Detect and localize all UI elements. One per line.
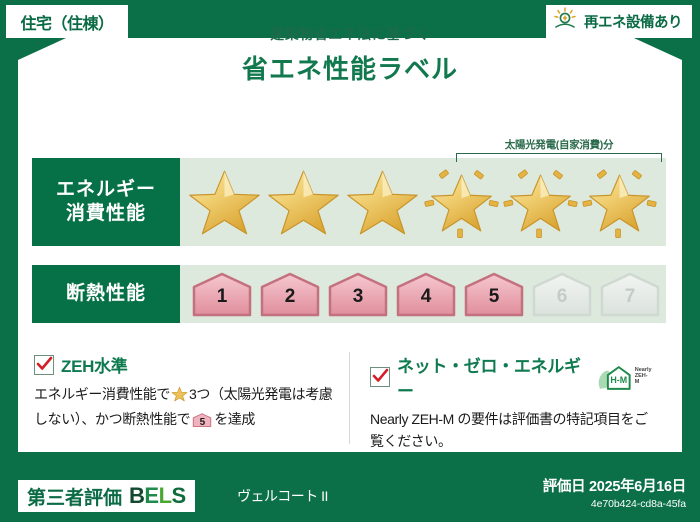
solar-annotation-bracket xyxy=(456,153,662,162)
insulation-level-value: 6 xyxy=(530,287,594,306)
star-icon xyxy=(186,165,263,239)
bels-logo: 第三者評価 BELS xyxy=(18,480,195,512)
star-icon xyxy=(265,165,342,239)
insulation-level-badge: 3 xyxy=(326,271,390,317)
solar-annotation-label: 太陽光発電(自家消費)分 xyxy=(452,137,666,152)
insulation-performance-row-label: 断熱性能 xyxy=(32,265,180,323)
star-icon-solar xyxy=(502,165,579,239)
zeh-standard-section: ZEH水準 エネルギー消費性能で3つ（太陽光発電は考慮しない）、かつ断熱性能で5… xyxy=(34,352,349,444)
insulation-level-badge: 4 xyxy=(394,271,458,317)
insulation-level-scale: 1 2 3 4 xyxy=(180,265,666,323)
zeh-m-caption-line2: ZEH-M xyxy=(635,374,652,386)
evaluation-id: 4e70b424-cd8a-45fa xyxy=(543,498,686,510)
category-chip: 住宅（住棟） xyxy=(6,5,128,38)
bels-jp-label: 第三者評価 xyxy=(27,483,122,510)
insulation-level-value: 4 xyxy=(394,287,458,306)
net-zero-energy-header: ネット・ゼロ・エネルギー H-M Nearly ZEH-M xyxy=(370,352,652,402)
insulation-level-value: 7 xyxy=(598,287,662,306)
net-zero-energy-section: ネット・ゼロ・エネルギー H-M Nearly ZEH-M Nearly ZEH… xyxy=(349,352,664,444)
energy-performance-row-label: エネルギー 消費性能 xyxy=(32,158,180,246)
insulation-level-badge: 7 xyxy=(598,271,662,317)
insulation-level-value: 2 xyxy=(258,287,322,306)
star-icon xyxy=(344,165,421,239)
evaluation-date: 評価日 2025年6月16日 xyxy=(543,475,686,496)
insulation-level-value: 5 xyxy=(462,287,526,306)
star-icon-solar xyxy=(581,165,658,239)
zeh-standard-title: ZEH水準 xyxy=(61,352,128,377)
certification-checks: ZEH水準 エネルギー消費性能で3つ（太陽光発電は考慮しない）、かつ断熱性能で5… xyxy=(34,352,664,444)
zeh-m-logo-icon: H-M Nearly ZEH-M xyxy=(597,363,652,391)
category-chip-label: 住宅（住棟） xyxy=(20,10,113,34)
bels-en-label: BELS xyxy=(129,483,186,509)
zeh-body-part3: を達成 xyxy=(214,411,255,427)
energy-performance-label: 住宅（住棟） 再エネ設備あり 建築物省エネ法に基づく 省エネ性能ラベル xyxy=(0,0,700,522)
net-zero-energy-body: Nearly ZEH-M の要件は評価書の特記項目をご覧ください。 xyxy=(370,409,652,452)
insulation-level-badge: 5 xyxy=(462,271,526,317)
checkbox-checked-icon xyxy=(34,355,54,375)
insulation-level-badge-inline: 5 xyxy=(192,412,212,435)
insulation-level-badge: 1 xyxy=(190,271,254,317)
insulation-level-value: 1 xyxy=(190,287,254,306)
zeh-body-part1: エネルギー消費性能で xyxy=(34,386,170,402)
energy-performance-stars: 太陽光発電(自家消費)分 xyxy=(180,158,666,246)
insulation-level-badge: 2 xyxy=(258,271,322,317)
insulation-level-badge: 6 xyxy=(530,271,594,317)
renewable-energy-badge-label: 再エネ設備あり xyxy=(584,11,682,32)
project-name: ヴェルコート II xyxy=(237,486,328,506)
inline-level-value: 5 xyxy=(192,415,212,431)
star-icon-inline xyxy=(171,389,188,405)
net-zero-energy-title: ネット・ゼロ・エネルギー xyxy=(397,352,588,402)
insulation-level-value: 3 xyxy=(326,287,390,306)
zeh-standard-body: エネルギー消費性能で3つ（太陽光発電は考慮しない）、かつ断熱性能で5を達成 xyxy=(34,384,337,434)
page-title: 省エネ性能ラベル xyxy=(0,49,700,86)
checkbox-checked-icon xyxy=(370,367,390,387)
svg-text:H-M: H-M xyxy=(611,375,628,385)
solar-sun-icon xyxy=(552,7,578,36)
energy-performance-row: エネルギー 消費性能 太陽光発電(自家消費)分 xyxy=(32,158,666,246)
insulation-performance-row: 断熱性能 1 xyxy=(32,265,666,323)
zeh-star-count: 3つ xyxy=(189,386,210,402)
evaluation-meta: 評価日 2025年6月16日 4e70b424-cd8a-45fa xyxy=(543,475,686,510)
star-icon-solar xyxy=(423,165,500,239)
zeh-standard-header: ZEH水準 xyxy=(34,352,337,377)
renewable-energy-badge: 再エネ設備あり xyxy=(546,5,692,38)
